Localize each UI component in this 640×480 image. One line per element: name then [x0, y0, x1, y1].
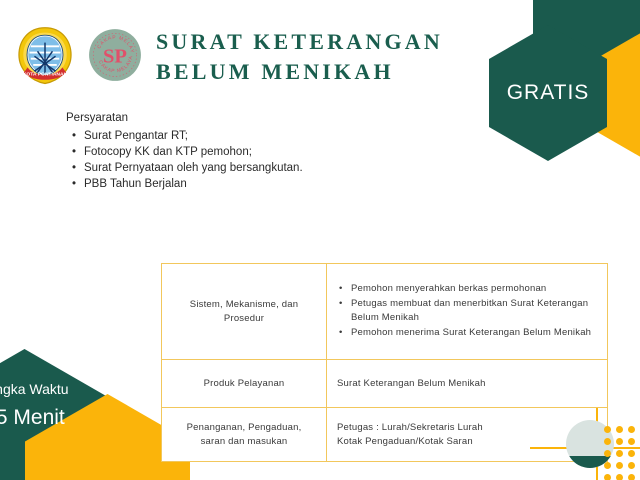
- jangka-waktu-badge: Jangka Waktu 55 Menit: [0, 349, 107, 480]
- page-title: SURAT KETERANGAN BELUM MENIKAH: [156, 27, 486, 87]
- table-row-value: Petugas : Lurah/Sekretaris Lurah Kotak P…: [327, 408, 608, 462]
- list-item: Fotocopy KK dan KTP pemohon;: [66, 144, 396, 160]
- jangka-waktu-value: 55 Menit: [0, 403, 65, 433]
- decor-dot-grid: [604, 426, 640, 480]
- list-item: Pemohon menerima Surat Keterangan Belum …: [337, 326, 597, 340]
- table-row: Produk Pelayanan Surat Keterangan Belum …: [162, 360, 608, 408]
- list-item: Petugas membuat dan menerbitkan Surat Ke…: [337, 297, 597, 325]
- persyaratan-list: Surat Pengantar RT; Fotocopy KK dan KTP …: [66, 128, 396, 192]
- table-row: Sistem, Mekanisme, dan Prosedur Pemohon …: [162, 264, 608, 360]
- table-row-label: Produk Pelayanan: [162, 360, 327, 408]
- list-item: Surat Pernyataan oleh yang bersangkutan.: [66, 160, 396, 176]
- persyaratan-heading: Persyaratan: [66, 110, 396, 126]
- table-row-value: Pemohon menyerahkan berkas permohonan Pe…: [327, 264, 608, 360]
- table-row-value: Surat Keterangan Belum Menikah: [327, 360, 608, 408]
- sp-service-seal-icon: CAKAP MELAYANI CAKAP MELAYANI SP: [88, 28, 142, 82]
- poster-canvas: GRATIS Jangka Waktu 55 Menit KOTA PONTIA…: [0, 0, 640, 480]
- list-item: Pemohon menyerahkan berkas permohonan: [337, 282, 597, 296]
- table-row: Penanganan, Pengaduan, saran dan masukan…: [162, 408, 608, 462]
- list-item: Surat Pengantar RT;: [66, 128, 396, 144]
- page-title-line-2: BELUM MENIKAH: [156, 57, 486, 87]
- page-title-line-1: SURAT KETERANGAN: [156, 27, 486, 57]
- seal-monogram: SP: [103, 46, 127, 68]
- jangka-waktu-label: Jangka Waktu: [0, 379, 69, 399]
- persyaratan-section: Persyaratan Surat Pengantar RT; Fotocopy…: [66, 110, 396, 192]
- gratis-label: GRATIS: [489, 25, 607, 161]
- emblem-caption: KOTA PONTIANAK: [23, 71, 68, 77]
- service-detail-table: Sistem, Mekanisme, dan Prosedur Pemohon …: [161, 263, 608, 462]
- list-item: PBB Tahun Berjalan: [66, 176, 396, 192]
- table-value-line: Petugas : Lurah/Sekretaris Lurah: [337, 421, 597, 435]
- table-row-label: Sistem, Mekanisme, dan Prosedur: [162, 264, 327, 360]
- kota-pontianak-emblem-icon: KOTA PONTIANAK: [14, 24, 76, 86]
- prosedur-list: Pemohon menyerahkan berkas permohonan Pe…: [337, 282, 597, 340]
- table-row-label: Penanganan, Pengaduan, saran dan masukan: [162, 408, 327, 462]
